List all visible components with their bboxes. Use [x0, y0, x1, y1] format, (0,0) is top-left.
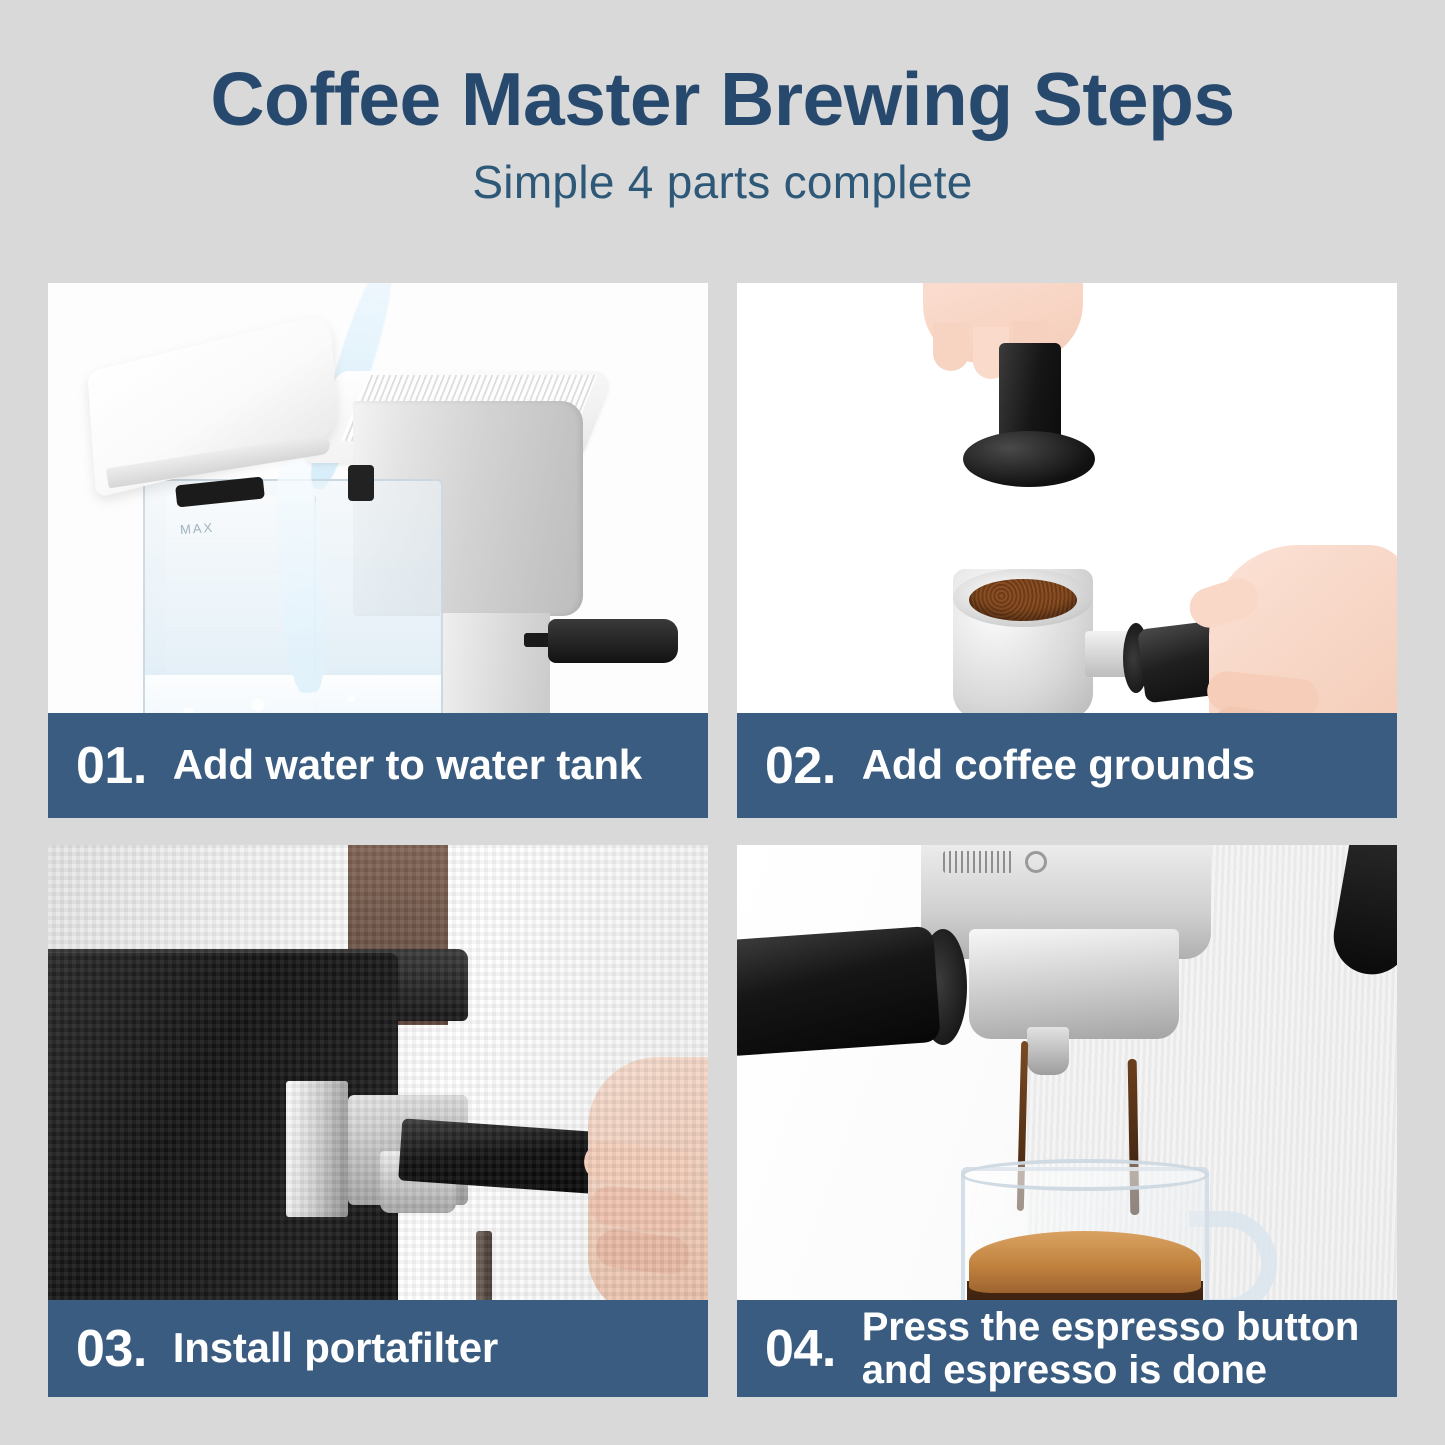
portafilter-basket — [969, 929, 1179, 1039]
step-04-label-line-2: and espresso is done — [862, 1348, 1267, 1392]
step-card-03[interactable]: 03. Install portafilter — [48, 845, 708, 1397]
espresso-crema — [969, 1231, 1201, 1293]
step-card-04[interactable]: 04. Press the espresso button and espres… — [737, 845, 1397, 1397]
page-header: Coffee Master Brewing Steps Simple 4 par… — [0, 0, 1445, 209]
step-03-caption: 03. Install portafilter — [48, 1300, 708, 1397]
chrome-column — [286, 1081, 348, 1217]
step-04-photo — [737, 845, 1397, 1300]
step-01-label: Add water to water tank — [173, 743, 642, 788]
tank-clip-right — [348, 465, 374, 501]
page-subtitle: Simple 4 parts complete — [0, 155, 1445, 209]
cup-rim — [961, 1159, 1209, 1191]
max-level-label: MAX — [180, 520, 215, 537]
step-04-label-line-1: Press the espresso button — [862, 1305, 1359, 1349]
tamper-base — [963, 431, 1095, 487]
page-title: Coffee Master Brewing Steps — [0, 60, 1445, 139]
step-03-photo — [48, 845, 708, 1300]
group-head-screw-icon — [1025, 851, 1047, 873]
group-head-vent-icon — [943, 851, 1013, 873]
step-03-number: 03. — [76, 1323, 147, 1375]
portafilter-handle — [737, 926, 941, 1056]
steps-grid: MAX 01. Add water to water tank — [48, 283, 1397, 1397]
coffee-grounds — [969, 579, 1077, 621]
step-card-02[interactable]: 02. Add coffee grounds — [737, 283, 1397, 818]
portafilter-spout — [476, 1231, 492, 1300]
water-bubbles-icon — [148, 683, 438, 713]
step-03-label: Install portafilter — [173, 1326, 498, 1371]
machine-base-column — [440, 613, 550, 713]
step-04-number: 04. — [765, 1323, 836, 1375]
step-04-label: Press the espresso button and espresso i… — [862, 1306, 1359, 1391]
step-02-photo — [737, 283, 1397, 713]
step-02-number: 02. — [765, 740, 836, 792]
portafilter-spout — [1027, 1027, 1069, 1075]
step-02-caption: 02. Add coffee grounds — [737, 713, 1397, 818]
step-card-01[interactable]: MAX 01. Add water to water tank — [48, 283, 708, 818]
steam-wand — [548, 619, 678, 663]
step-02-label: Add coffee grounds — [862, 743, 1255, 788]
step-01-photo: MAX — [48, 283, 708, 713]
tamper-hand-finger-1 — [933, 323, 969, 371]
step-01-number: 01. — [76, 740, 147, 792]
step-04-caption: 04. Press the espresso button and espres… — [737, 1300, 1397, 1397]
step-01-caption: 01. Add water to water tank — [48, 713, 708, 818]
